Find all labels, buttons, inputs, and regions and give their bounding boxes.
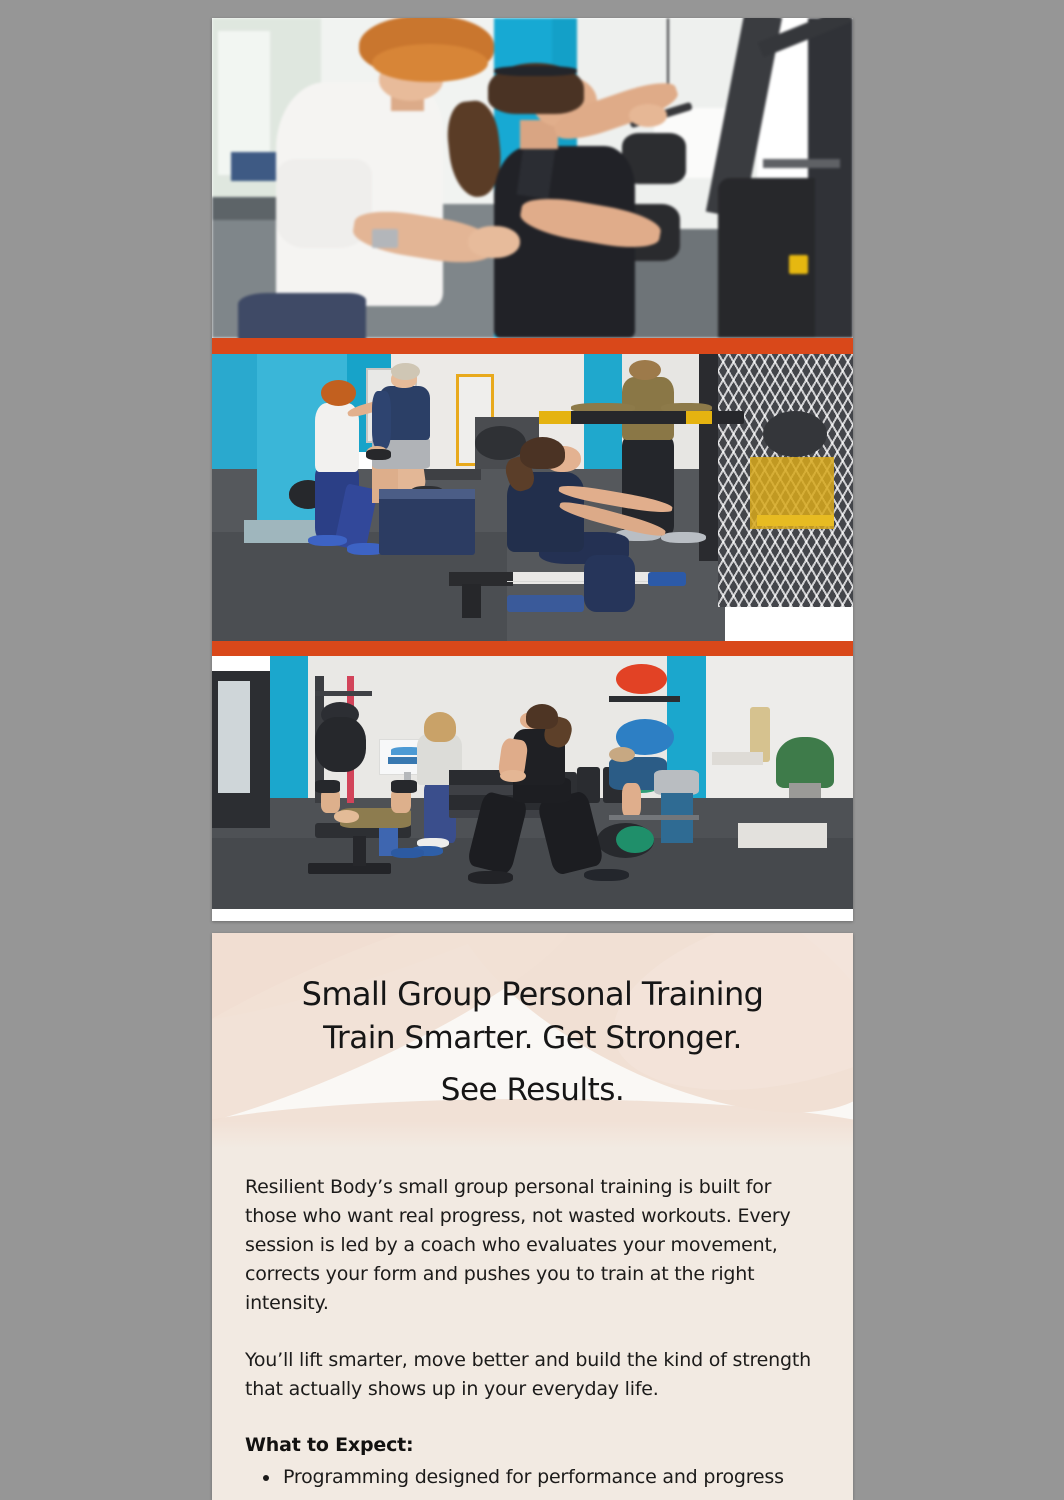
- photo-lat-pulldown-coaching: [212, 18, 853, 338]
- photo-3-scene: [212, 656, 853, 909]
- photo-gym-floor-lunge: [212, 656, 853, 909]
- list-item: Programming designed for performance and…: [245, 1463, 819, 1492]
- hero-fade: [212, 1121, 853, 1151]
- what-to-expect-heading: What to Expect:: [245, 1434, 819, 1456]
- page-title: Small Group Personal Training: [212, 977, 853, 1012]
- orange-divider-2: [212, 641, 853, 656]
- orange-divider-1: [212, 338, 853, 354]
- photo-1-scene: [212, 18, 853, 338]
- hero-header: Small Group Personal Training Train Smar…: [212, 933, 853, 1151]
- photo-2-scene: [212, 354, 853, 641]
- gym-photo-collage: Sign-up Here: [212, 18, 853, 921]
- poster-page: Sign-up Here Small Group Personal Traini…: [0, 0, 1064, 1500]
- training-info-card: Small Group Personal Training Train Smar…: [212, 933, 853, 1500]
- body-copy: Resilient Body’s small group personal tr…: [212, 1151, 853, 1492]
- hero-subtitle-line-1: Train Smarter. Get Stronger.: [212, 1012, 853, 1064]
- hero-text-block: Small Group Personal Training Train Smar…: [212, 933, 853, 1116]
- photo-group-training-rower: [212, 354, 853, 641]
- what-to-expect-list: Programming designed for performance and…: [245, 1463, 819, 1492]
- benefit-paragraph: You’ll lift smarter, move better and bui…: [245, 1346, 819, 1404]
- intro-paragraph: Resilient Body’s small group personal tr…: [245, 1173, 819, 1318]
- hero-subtitle-line-2: See Results.: [212, 1064, 853, 1116]
